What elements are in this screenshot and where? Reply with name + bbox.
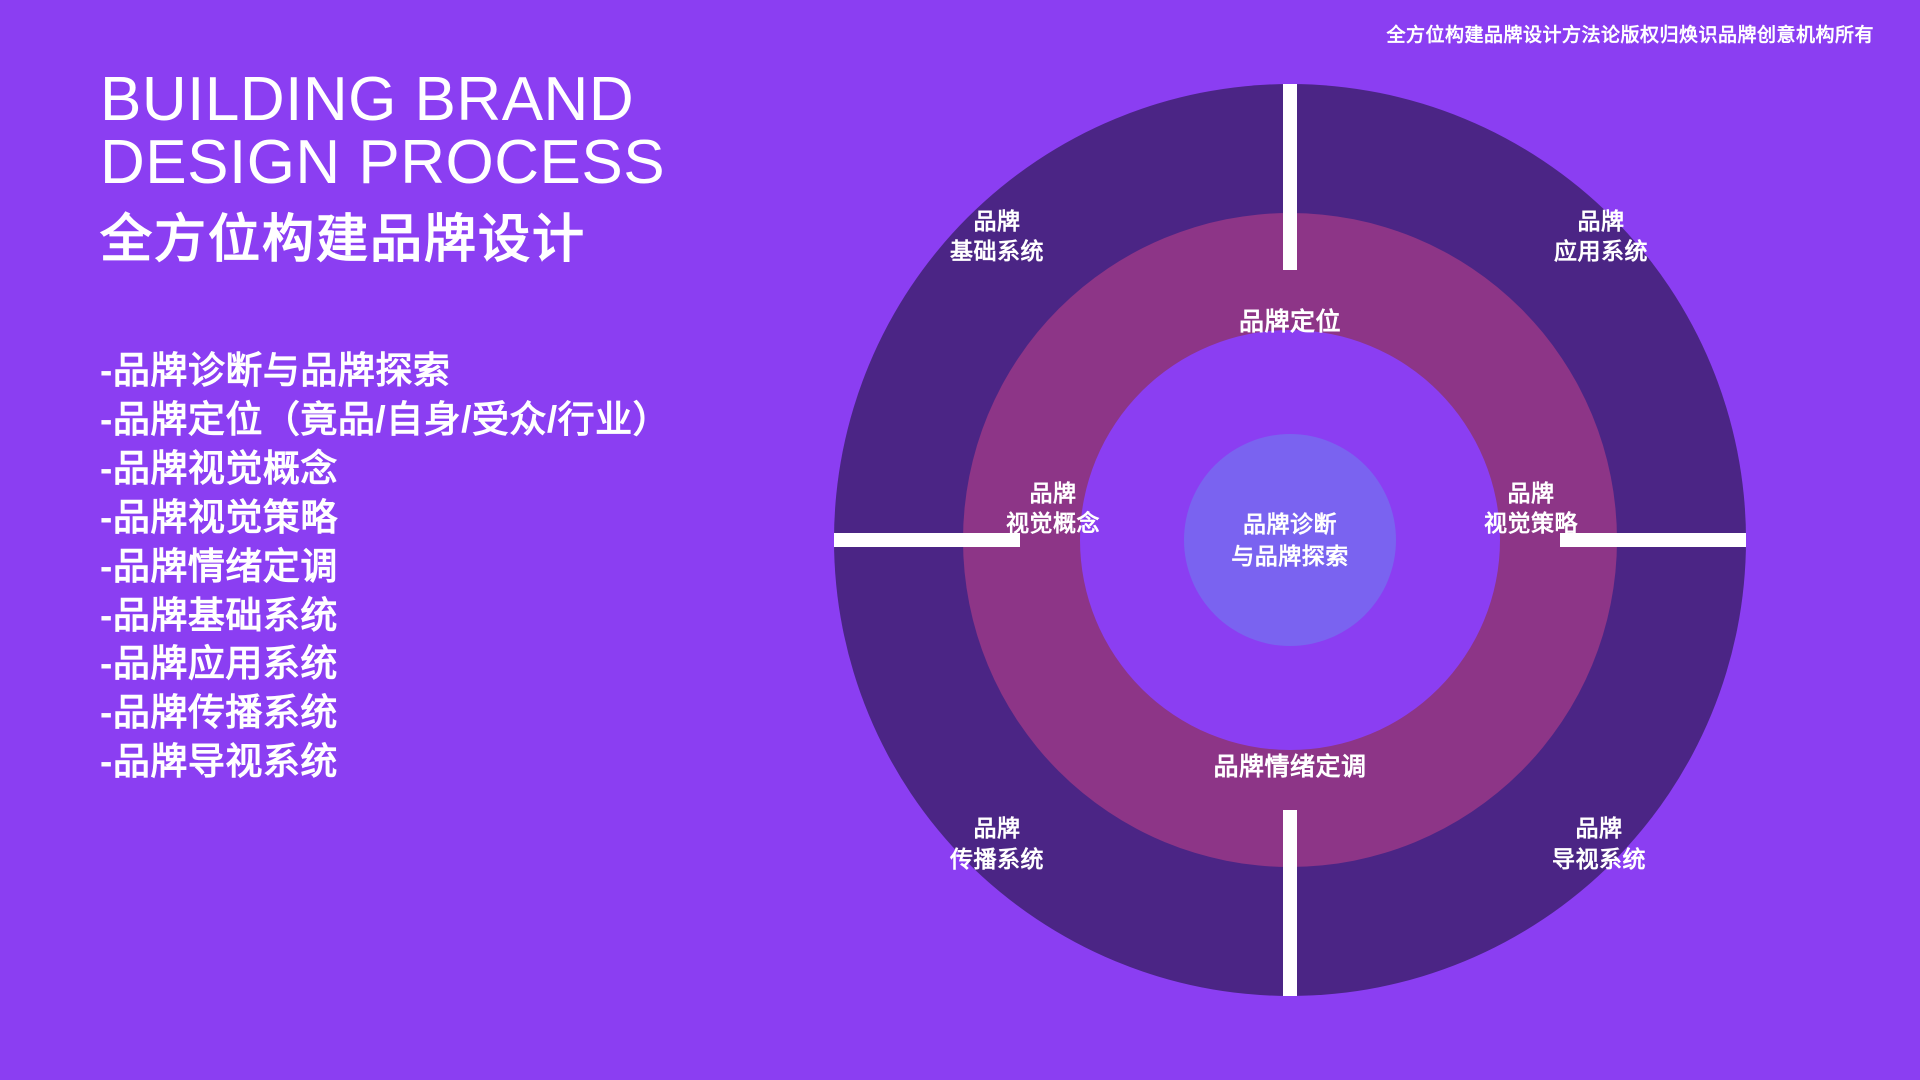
copyright-notice: 全方位构建品牌设计方法论版权归焕识品牌创意机构所有 bbox=[1386, 20, 1874, 47]
list-item: -品牌定位（竟品/自身/受众/行业） bbox=[100, 396, 820, 445]
list-item: -品牌导视系统 bbox=[100, 738, 820, 787]
ring-label-middle-right: 品牌 视觉策略 bbox=[1456, 478, 1606, 539]
list-item: -品牌视觉概念 bbox=[100, 445, 820, 494]
page-title-chinese: 全方位构建品牌设计 bbox=[100, 208, 820, 273]
divider-bottom bbox=[1283, 810, 1297, 996]
list-item: -品牌基础系统 bbox=[100, 592, 820, 641]
ring-label-inner-top: 品牌定位 bbox=[1160, 306, 1420, 339]
page-title-english: BUILDING BRAND DESIGN PROCESS bbox=[100, 68, 820, 194]
ring-label-outer-bottom-right: 品牌 导视系统 bbox=[1514, 813, 1684, 874]
concentric-ring-diagram: 品牌 基础系统 品牌 应用系统 品牌 传播系统 品牌 导视系统 品牌 视觉概念 … bbox=[834, 84, 1746, 996]
list-item: -品牌传播系统 bbox=[100, 689, 820, 738]
list-item: -品牌应用系统 bbox=[100, 640, 820, 689]
ring-label-core: 品牌诊断 与品牌探索 bbox=[1185, 508, 1395, 572]
ring-label-middle-left: 品牌 视觉概念 bbox=[978, 478, 1128, 539]
ring-label-outer-bottom-left: 品牌 传播系统 bbox=[912, 813, 1082, 874]
divider-top bbox=[1283, 84, 1297, 270]
left-content-column: BUILDING BRAND DESIGN PROCESS 全方位构建品牌设计 … bbox=[100, 68, 820, 787]
list-item: -品牌诊断与品牌探索 bbox=[100, 347, 820, 396]
ring-label-middle-bottom: 品牌情绪定调 bbox=[1140, 751, 1440, 784]
ring-label-outer-top-right: 品牌 应用系统 bbox=[1516, 206, 1686, 267]
ring-label-outer-top-left: 品牌 基础系统 bbox=[912, 206, 1082, 267]
process-bullet-list: -品牌诊断与品牌探索 -品牌定位（竟品/自身/受众/行业） -品牌视觉概念 -品… bbox=[100, 347, 820, 786]
list-item: -品牌情绪定调 bbox=[100, 543, 820, 592]
list-item: -品牌视觉策略 bbox=[100, 494, 820, 543]
slide-canvas: 全方位构建品牌设计方法论版权归焕识品牌创意机构所有 BUILDING BRAND… bbox=[0, 0, 1920, 1080]
